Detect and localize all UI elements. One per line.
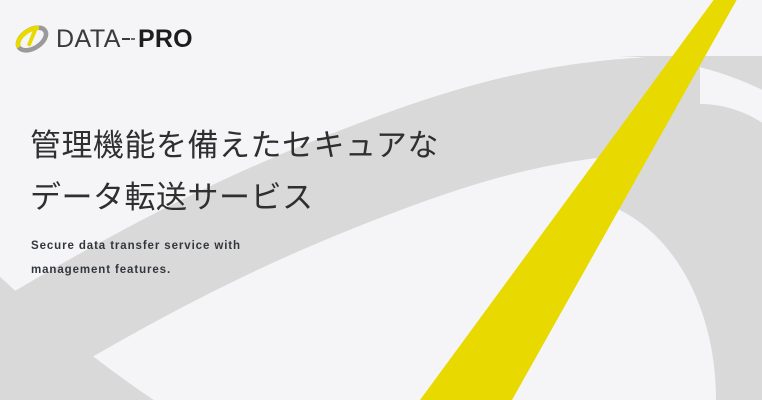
subtitle: Secure data transfer service with manage… [31,234,431,282]
promo-slide: DATA PRO 管理機能を備えたセキュアな データ転送サービス Secure … [0,0,762,400]
wordmark-data: DATA [56,27,121,52]
brand-wordmark: DATA PRO [56,27,193,52]
subtitle-line-2: management features. [31,258,431,282]
wordmark-separator-icon [122,33,137,45]
brand-logo[interactable]: DATA PRO [14,20,193,58]
data-pro-swoosh-logo-icon [14,22,50,56]
headline: 管理機能を備えたセキュアな データ転送サービス [30,120,500,224]
headline-line-2: データ転送サービス [30,172,500,224]
headline-line-1: 管理機能を備えたセキュアな [30,120,500,172]
wordmark-pro: PRO [138,27,193,52]
subtitle-line-1: Secure data transfer service with [31,234,431,258]
